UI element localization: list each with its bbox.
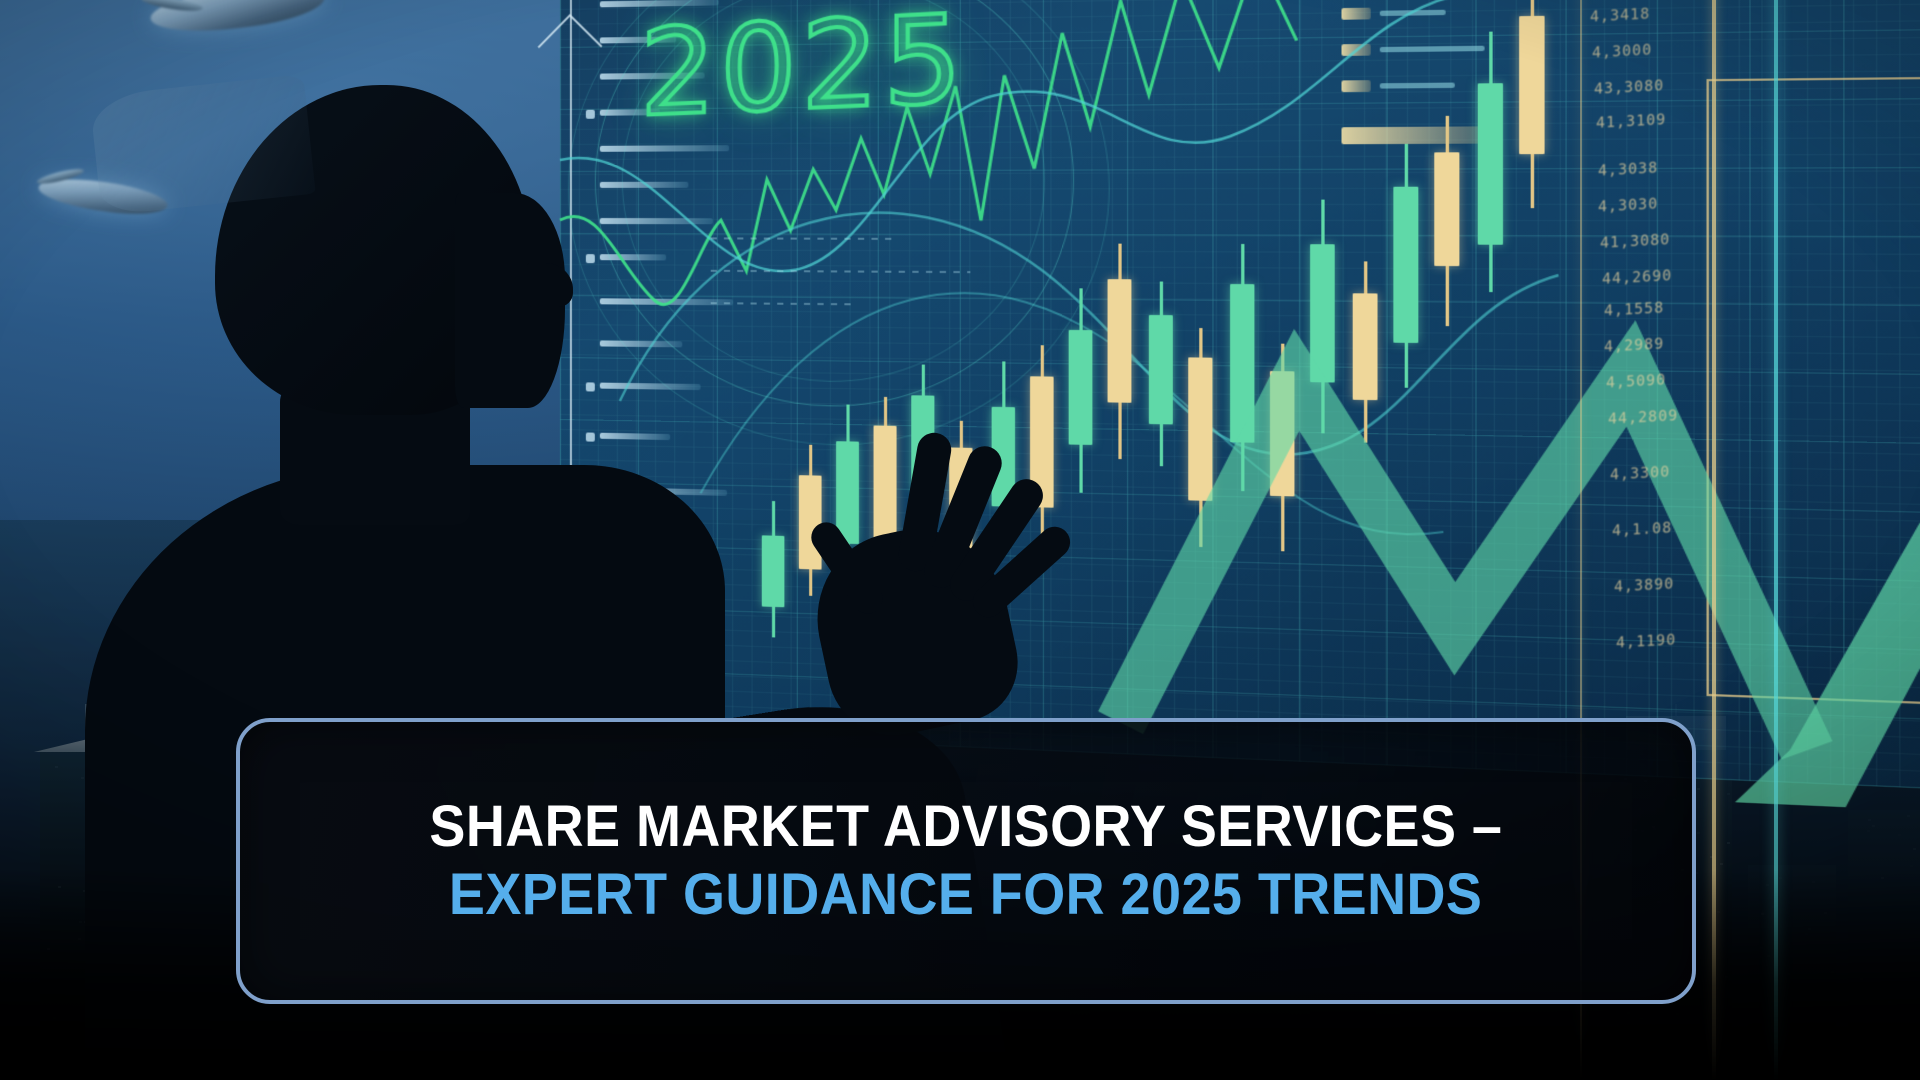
title-panel: SHARE MARKET ADVISORY SERVICES – EXPERT …: [236, 718, 1696, 1004]
page-title-line2: EXPERT GUIDANCE FOR 2025 TRENDS: [449, 861, 1482, 929]
banner-canvas: 2025: [0, 0, 1920, 1080]
page-title-line1: SHARE MARKET ADVISORY SERVICES –: [430, 793, 1503, 861]
